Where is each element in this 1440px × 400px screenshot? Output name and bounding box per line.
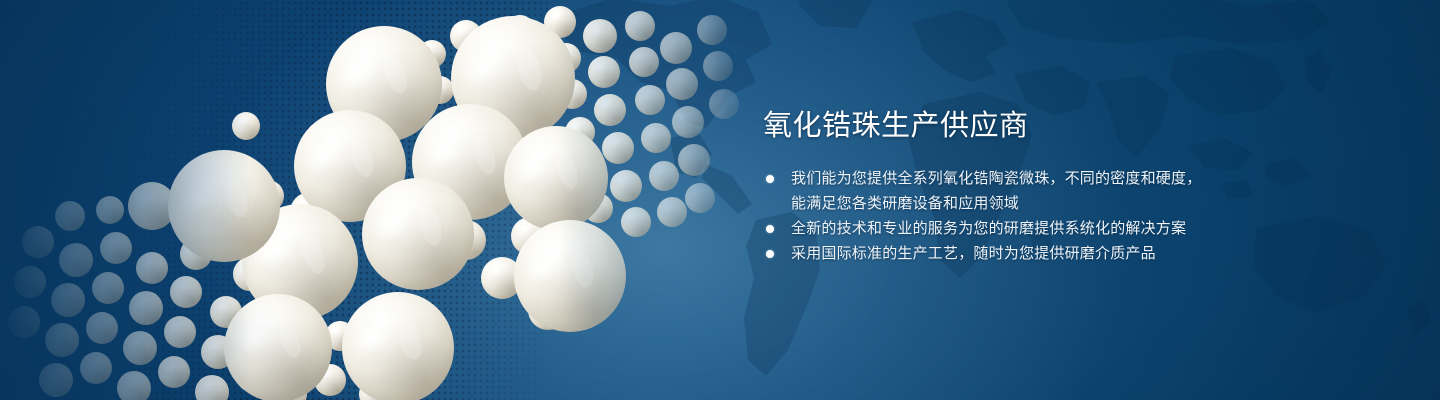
banner-vignette [0, 0, 1440, 400]
hero-banner: 氧化锆珠生产供应商 我们能为您提供全系列氧化锆陶瓷微珠，不同的密度和硬度， 能满… [0, 0, 1440, 400]
